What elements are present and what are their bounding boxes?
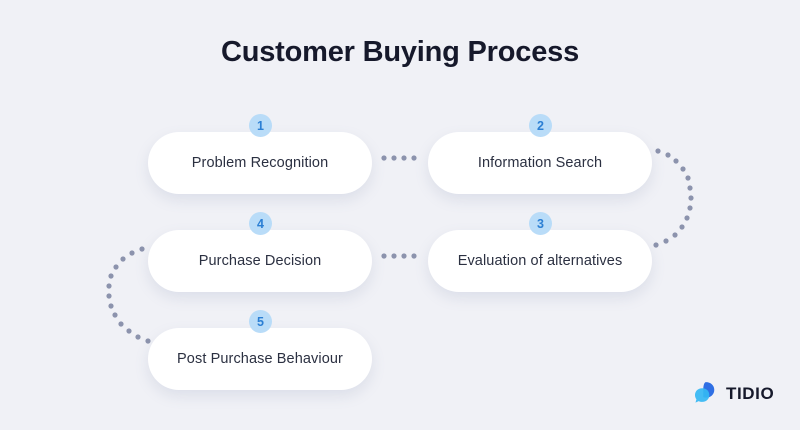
step-card-1[interactable]: Problem Recognition	[148, 132, 372, 194]
step-badge-3: 3	[529, 212, 552, 235]
tidio-logo-icon	[692, 380, 719, 407]
step-label-4: Purchase Decision	[199, 253, 322, 269]
connector-2-to-3	[653, 148, 693, 247]
step-label-1: Problem Recognition	[192, 155, 329, 171]
step-card-3[interactable]: Evaluation of alternatives	[428, 230, 652, 292]
step-label-5: Post Purchase Behaviour	[177, 351, 343, 367]
tidio-logo-text: TIDIO	[726, 384, 774, 404]
tidio-logo: TIDIO	[692, 380, 774, 407]
step-card-2[interactable]: Information Search	[428, 132, 652, 194]
step-badge-1: 1	[249, 114, 272, 137]
step-badge-2: 2	[529, 114, 552, 137]
page-title: Customer Buying Process	[0, 36, 800, 69]
step-badge-4: 4	[249, 212, 272, 235]
connector-4-to-5	[106, 246, 150, 343]
infographic-canvas: Customer Buying Process	[0, 0, 800, 430]
step-badge-5: 5	[249, 310, 272, 333]
step-card-4[interactable]: Purchase Decision	[148, 230, 372, 292]
step-label-3: Evaluation of alternatives	[458, 253, 623, 269]
connector-3-to-4	[381, 253, 416, 258]
step-label-2: Information Search	[478, 155, 602, 171]
step-card-5[interactable]: Post Purchase Behaviour	[148, 328, 372, 390]
connector-1-to-2	[381, 155, 416, 160]
